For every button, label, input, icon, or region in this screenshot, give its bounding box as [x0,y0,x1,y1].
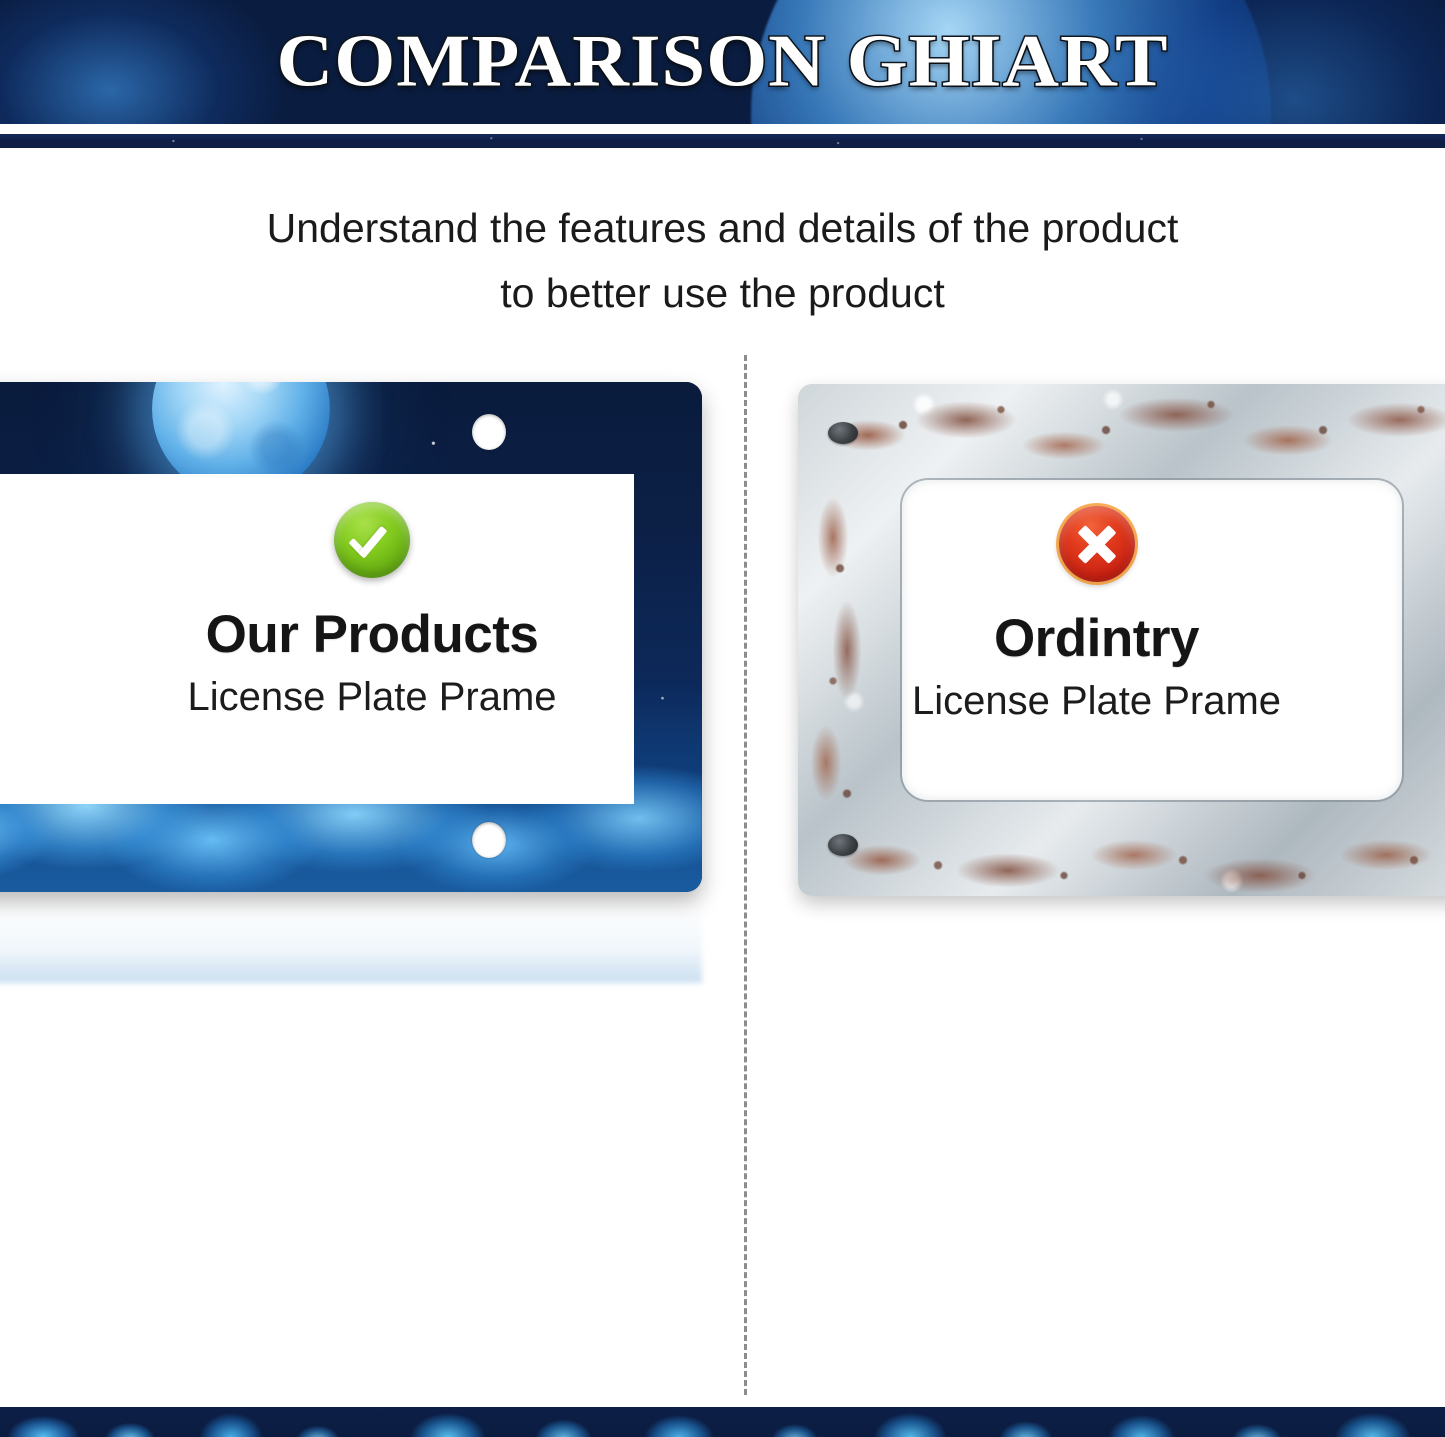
screw-bolt-top-left [828,422,858,444]
banner-separator-strip [0,134,1445,148]
left-label-block: Our Products License Plate Prame [0,502,744,720]
banner-separator-gap [0,124,1445,134]
right-label-block: Ordintry License Plate Prame [748,506,1445,724]
product-image-right: Ordintry License Plate Prame [748,360,1445,985]
subtitle-line-1: Understand the features and details of t… [0,196,1445,261]
panel-divider [744,355,747,1395]
screw-bolt-bottom-left [828,834,858,856]
frame-reflection-left [0,887,702,983]
comparison-chart-page: COMPARISON GHIART Understand the feature… [0,0,1445,1437]
panel-our-products: Our Products License Plate Prame Our Pro… [0,360,744,985]
page-title: COMPARISON GHIART [0,20,1445,105]
right-product-title: Ordintry [994,608,1199,669]
screw-hole-top-right [472,414,506,450]
page-subtitle: Understand the features and details of t… [0,196,1445,326]
product-image-left: Our Products License Plate Prame [0,360,744,985]
subtitle-line-2: to better use the product [0,261,1445,326]
right-product-subtitle: License Plate Prame [912,679,1281,724]
footer-band [0,1407,1445,1437]
header-banner: COMPARISON GHIART [0,0,1445,124]
panel-ordinary: Ordintry License Plate Prame Ordintry Tr… [748,360,1445,985]
footer-cloud-texture [0,1407,1445,1437]
left-product-subtitle: License Plate Prame [187,675,556,720]
red-cross-circle-icon [1059,506,1135,582]
green-check-circle-icon [334,502,410,578]
left-product-title: Our Products [206,604,539,665]
screw-hole-bottom-right [472,822,506,858]
